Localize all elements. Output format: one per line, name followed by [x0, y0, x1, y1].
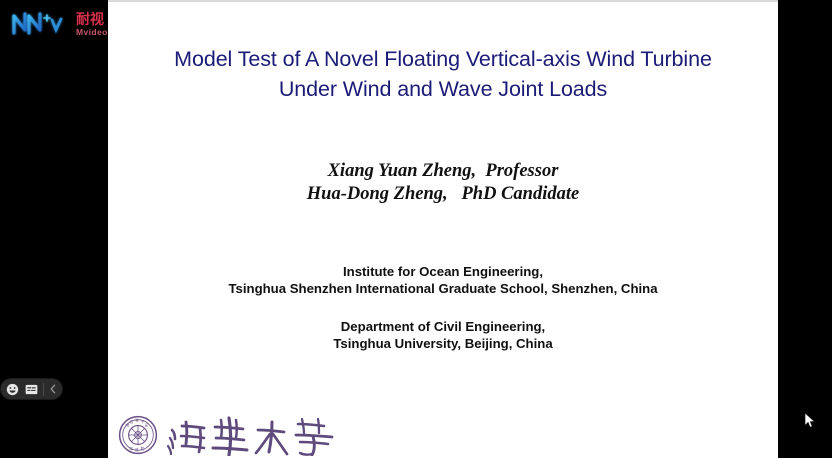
watermark-latin-text: Mvideo [76, 27, 108, 37]
smiley-icon [6, 383, 19, 396]
mvideo-watermark-logo: 耐视 Mvideo [8, 6, 112, 40]
author-line-2: Hua-Dong Zheng, PhD Candidate [108, 183, 778, 206]
svg-text:自: 自 [130, 419, 133, 424]
author-line-1: Xiang Yuan Zheng, Professor [108, 160, 778, 183]
captions-button[interactable] [23, 381, 40, 397]
tsinghua-university-logo: 自 强 不 息 厚 德 载 物 [118, 408, 348, 458]
tsinghua-seal-svg: 自 强 不 息 厚 德 载 物 [118, 415, 158, 455]
screen-share-viewport: 耐视 Mvideo Model Test of A Novel Floating… [0, 0, 832, 458]
slide-title-line-1: Model Test of A Novel Floating Vertical-… [108, 44, 778, 74]
affiliation-block-secondary: Department of Civil Engineering, Tsinghu… [108, 318, 778, 352]
controls-divider [43, 383, 44, 396]
captions-icon [25, 384, 38, 395]
reactions-button[interactable] [4, 381, 21, 397]
svg-text:厚: 厚 [129, 446, 133, 451]
affiliation-1-line-2: Tsinghua Shenzhen International Graduate… [108, 280, 778, 297]
tsinghua-wordmark [166, 414, 342, 456]
svg-text:德: 德 [135, 447, 139, 452]
collapse-controls-button[interactable] [46, 381, 60, 397]
cursor-arrow-icon [804, 412, 816, 430]
affiliation-block-primary: Institute for Ocean Engineering, Tsinghu… [108, 263, 778, 297]
affiliation-2-line-1: Department of Civil Engineering, [108, 318, 778, 335]
watermark-cn-text: 耐视 [76, 11, 104, 28]
chevron-left-icon [49, 384, 57, 394]
slide-top-divider [108, 0, 778, 2]
video-stage: 耐视 Mvideo Model Test of A Novel Floating… [0, 0, 832, 458]
player-controls-pill[interactable] [1, 379, 62, 399]
mvideo-logo-svg: 耐视 Mvideo [8, 6, 112, 40]
shared-slide: Model Test of A Novel Floating Vertical-… [108, 0, 778, 458]
tsinghua-wordmark-svg [166, 414, 342, 456]
svg-text:载: 载 [141, 446, 145, 451]
slide-authors: Xiang Yuan Zheng, Professor Hua-Dong Zhe… [108, 160, 778, 206]
affiliation-2-line-2: Tsinghua University, Beijing, China [108, 335, 778, 352]
slide-title-line-2: Under Wind and Wave Joint Loads [108, 74, 778, 104]
slide-title: Model Test of A Novel Floating Vertical-… [108, 44, 778, 104]
mouse-cursor [804, 412, 816, 430]
affiliation-1-line-1: Institute for Ocean Engineering, [108, 263, 778, 280]
tsinghua-seal-icon: 自 强 不 息 厚 德 载 物 [118, 415, 158, 455]
